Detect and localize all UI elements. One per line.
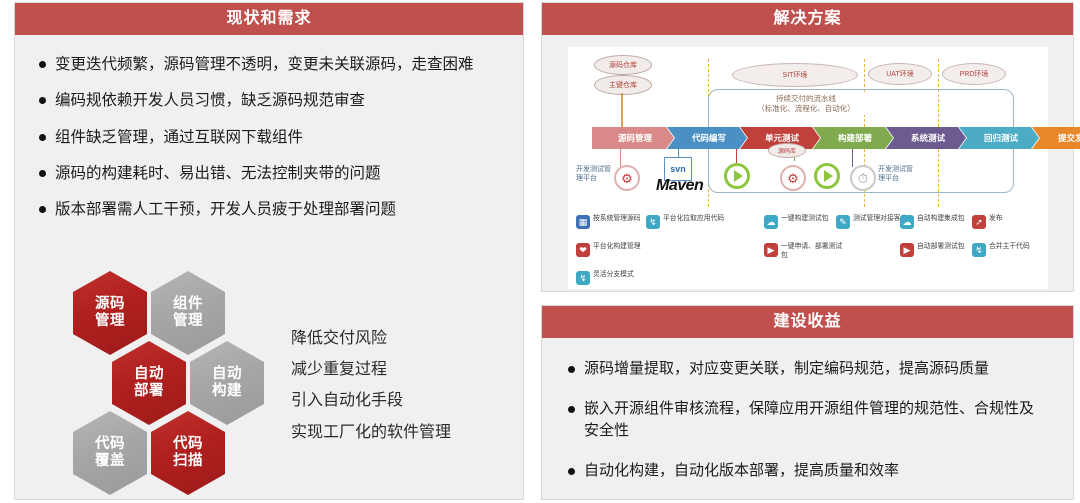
- gauge-circle-icon-system-test: ⏱: [850, 165, 876, 191]
- cd-label-line1: 持续交付的流水线: [738, 94, 874, 104]
- platform-note-line2: 理平台: [576, 174, 611, 183]
- capability-hexagon-cluster: 源码 管理 组件 管理 自动 部署 自动 构建 代码 覆盖: [39, 271, 269, 499]
- bullet-text: 组件缺乏管理，通过互联网下载组件: [55, 126, 501, 149]
- legend-label: 自动构建集成包: [917, 215, 965, 224]
- env-pill-prd: PRD环境: [942, 63, 1006, 85]
- list-item: 源码的构建耗时、易出错、无法控制夹带的问题: [39, 162, 501, 185]
- legend-item-test-management-customer: ✎ 测试管理对接客户: [836, 215, 907, 229]
- outcome-item: 引入自动化手段: [291, 385, 451, 416]
- panel-solution-title: 解决方案: [542, 3, 1073, 35]
- bullet-text: 源码增量提取，对应变更关联，制定编码规范，提高源码质量: [584, 358, 1047, 381]
- hexagon-code-coverage: 代码 覆盖: [73, 411, 147, 495]
- bullet-dot-icon: [39, 206, 46, 213]
- legend-label: 发布: [989, 215, 1003, 224]
- list-item: 嵌入开源组件审核流程，保障应用开源组件管理的规范性、合规性及安全性: [568, 398, 1047, 443]
- heart-icon: ❤: [576, 243, 590, 257]
- bullet-dot-icon: [39, 97, 46, 104]
- hexagon-label-line2: 构建: [212, 383, 242, 400]
- gear-icon: ⚙: [621, 172, 633, 185]
- legend-item-auto-build-integration-package: ☁ 自动构建集成包: [900, 215, 965, 229]
- hexagon-label-line1: 自动: [212, 366, 242, 383]
- hexagon-label-line2: 扫描: [173, 453, 203, 470]
- legend-item-manage-source-by-system: ▦ 按系统管理源码: [576, 215, 641, 229]
- legend-label: 一键构建测试包: [781, 215, 829, 224]
- bullet-dot-icon: [568, 366, 575, 373]
- hexagon-source-code-management: 源码 管理: [73, 271, 147, 355]
- benefit-bullet-list: 源码增量提取，对应变更关联，制定编码规范，提高源码质量 嵌入开源组件审核流程，保…: [542, 338, 1073, 503]
- env-pill-uat: UAT环境: [868, 63, 932, 85]
- current-state-bullet-list: 变更迭代频繁，源码管理不透明，变更未关联源码，走查困难 编码规依赖开发人员习惯，…: [15, 35, 523, 244]
- branch-icon: ↯: [972, 243, 986, 257]
- pipeline-stage-build-deploy[interactable]: 构建部署: [813, 127, 893, 149]
- legend-item-one-click-build-test-package: ☁ 一键构建测试包: [764, 215, 829, 229]
- hexagon-label-line1: 源码: [95, 296, 125, 313]
- play-circle-icon-unit-test: [724, 163, 750, 189]
- platform-note-line2: 理平台: [878, 174, 913, 183]
- legend-label: 平台化拉取应用代码: [663, 215, 724, 224]
- cicd-pipeline-diagram: SIT环境 UAT环境 PRD环境 持续交付的流水线 （标准化、流程化、自动化）…: [568, 47, 1048, 289]
- pipeline-stage-system-test[interactable]: 系统测试: [886, 127, 966, 149]
- pipeline-stage-release[interactable]: 提交发布: [1032, 127, 1080, 149]
- hexagon-label-line2: 部署: [134, 383, 164, 400]
- legend-item-release: ➚ 发布: [972, 215, 1003, 229]
- cloud-icon: ☁: [764, 215, 778, 229]
- panel-benefit-title: 建设收益: [542, 306, 1073, 338]
- bullet-dot-icon: [568, 468, 575, 475]
- hexagon-component-management: 组件 管理: [151, 271, 225, 355]
- play-circle-icon-deploy: [814, 163, 840, 189]
- list-item: 组件缺乏管理，通过互联网下载组件: [39, 126, 501, 149]
- slide-canvas: 现状和需求 变更迭代频繁，源码管理不透明，变更未关联源码，走查困难 编码规依赖开…: [0, 0, 1080, 503]
- legend-item-flexible-branching: ↯ 灵活分支模式: [576, 271, 634, 285]
- continuous-delivery-label: 持续交付的流水线 （标准化、流程化、自动化）: [736, 93, 876, 115]
- panel-benefit: 建设收益 源码增量提取，对应变更关联，制定编码规范，提高源码质量 嵌入开源组件审…: [541, 305, 1074, 500]
- capability-outcome-list: 降低交付风险 减少重复过程 引入自动化手段 实现工厂化的软件管理: [291, 323, 451, 448]
- branch-icon: ↯: [646, 215, 660, 229]
- legend-label: 灵活分支模式: [593, 271, 634, 280]
- bullet-text: 版本部署需人工干预，开发人员疲于处理部署问题: [55, 198, 501, 221]
- outcome-item: 实现工厂化的软件管理: [291, 417, 451, 448]
- branch-icon: ↯: [576, 271, 590, 285]
- repo-connector-line: [621, 93, 623, 127]
- legend-label: 平台化构建管理: [593, 243, 641, 252]
- pipeline-stage-regression-test[interactable]: 回归测试: [959, 127, 1039, 149]
- play-icon: ▶: [900, 243, 914, 257]
- edit-icon: ✎: [836, 215, 850, 229]
- platform-note-dev-right: 开发测试管 理平台: [878, 165, 913, 184]
- panel-solution: 解决方案 SIT环境 UAT环境 PRD环境 持续交付的流水线 （标准化、流程化…: [541, 2, 1074, 292]
- hexagon-code-scan: 代码 扫描: [151, 411, 225, 495]
- bullet-text: 变更迭代频繁，源码管理不透明，变更未关联源码，走查困难: [55, 53, 501, 76]
- hexagon-label-line2: 管理: [173, 313, 203, 330]
- list-item: 版本部署需人工干预，开发人员疲于处理部署问题: [39, 198, 501, 221]
- bullet-text: 嵌入开源组件审核流程，保障应用开源组件管理的规范性、合规性及安全性: [584, 398, 1047, 443]
- play-icon: ▶: [764, 243, 778, 257]
- pipeline-stage-row: 源码管理 代码编写 单元测试 构建部署 系统测试 回归测试 提交发布: [592, 127, 1080, 149]
- hexagon-label-line2: 覆盖: [95, 453, 125, 470]
- panel-current-state-body: 变更迭代频繁，源码管理不透明，变更未关联源码，走查困难 编码规依赖开发人员习惯，…: [15, 35, 523, 244]
- platform-note-dev-left: 开发测试管 理平台: [576, 165, 611, 184]
- legend-label: 合并主干代码: [989, 243, 1030, 252]
- env-pill-sit: SIT环境: [732, 63, 858, 87]
- play-triangle-icon: [824, 170, 833, 182]
- legend-label: 自动部署测试包: [917, 243, 965, 252]
- pipeline-stage-coding[interactable]: 代码编写: [667, 127, 747, 149]
- component-repo-pill: 源码库: [768, 143, 806, 158]
- legend-item-one-click-apply-deploy: ▶ 一键申请、部署测试包: [764, 243, 843, 261]
- hexagon-label-line2: 管理: [95, 313, 125, 330]
- legend-item-auto-deploy-test-package: ▶ 自动部署测试包: [900, 243, 965, 257]
- legend-item-platform-build-management: ❤ 平台化构建管理: [576, 243, 641, 257]
- gauge-icon: ⏱: [858, 172, 868, 185]
- panel-current-state: 现状和需求 变更迭代频繁，源码管理不透明，变更未关联源码，走查困难 编码规依赖开…: [14, 2, 524, 500]
- outcome-item: 降低交付风险: [291, 323, 451, 354]
- list-item: 自动化构建，自动化版本部署，提高质量和效率: [568, 460, 1047, 483]
- outcome-item: 减少重复过程: [291, 354, 451, 385]
- legend-label: 一键申请、部署测试包: [781, 243, 843, 261]
- gear-circle-icon-build: ⚙: [780, 165, 806, 191]
- gear-icon: ⚙: [787, 172, 799, 185]
- cd-label-line2: （标准化、流程化、自动化）: [738, 104, 874, 114]
- rocket-icon: ➚: [972, 215, 986, 229]
- hexagon-auto-deploy: 自动 部署: [112, 341, 186, 425]
- bullet-dot-icon: [39, 61, 46, 68]
- platform-note-line1: 开发测试管: [878, 165, 913, 174]
- panel-benefit-body: 源码增量提取，对应变更关联，制定编码规范，提高源码质量 嵌入开源组件审核流程，保…: [542, 338, 1073, 503]
- panel-current-state-title: 现状和需求: [15, 3, 523, 35]
- legend-label: 按系统管理源码: [593, 215, 641, 224]
- hexagon-label-line1: 代码: [173, 436, 203, 453]
- hexagon-label-line1: 代码: [95, 436, 125, 453]
- gear-circle-icon-dev-platform: ⚙: [614, 165, 640, 191]
- hexagon-label-line1: 自动: [134, 366, 164, 383]
- hexagon-auto-build: 自动 构建: [190, 341, 264, 425]
- bullet-text: 源码的构建耗时、易出错、无法控制夹带的问题: [55, 162, 501, 185]
- play-triangle-icon: [734, 170, 743, 182]
- platform-note-line1: 开发测试管: [576, 165, 611, 174]
- bullet-dot-icon: [39, 170, 46, 177]
- bullet-text: 编码规依赖开发人员习惯，缺乏源码规范审查: [55, 89, 501, 112]
- repo-pill-source: 源码仓库: [594, 55, 652, 75]
- list-item: 源码增量提取，对应变更关联，制定编码规范，提高源码质量: [568, 358, 1047, 381]
- hexagon-label-line1: 组件: [173, 296, 203, 313]
- legend-item-platform-fetch-code: ↯ 平台化拉取应用代码: [646, 215, 724, 229]
- grid-icon: ▦: [576, 215, 590, 229]
- pipeline-stage-scm[interactable]: 源码管理: [592, 127, 674, 149]
- bullet-text: 自动化构建，自动化版本部署，提高质量和效率: [584, 460, 1047, 483]
- list-item: 变更迭代频繁，源码管理不透明，变更未关联源码，走查困难: [39, 53, 501, 76]
- bullet-dot-icon: [568, 406, 575, 413]
- list-item: 编码规依赖开发人员习惯，缺乏源码规范审查: [39, 89, 501, 112]
- legend-item-merge-trunk-code: ↯ 合并主干代码: [972, 243, 1030, 257]
- cloud-icon: ☁: [900, 215, 914, 229]
- stage-stem-system-test: [852, 149, 853, 167]
- repo-pill-primary: 主键仓库: [594, 75, 652, 95]
- bullet-dot-icon: [39, 134, 46, 141]
- maven-logo: Maven: [656, 177, 703, 195]
